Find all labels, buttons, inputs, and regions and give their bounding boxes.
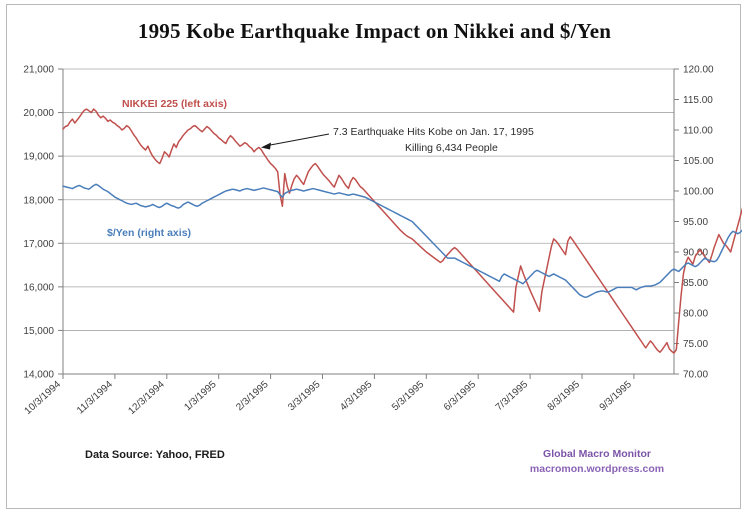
tick-label-right-axis: 115.00 (683, 95, 713, 106)
tick-label-right-axis: 85.00 (683, 278, 708, 289)
brand-site: macromon.wordpress.com (487, 462, 707, 477)
tick-label-x-axis-group: 4/3/1995 (338, 379, 375, 414)
tick-label-right-axis: 110.00 (683, 126, 713, 137)
tick-label-right-axis: 100.00 (683, 187, 714, 198)
annotation-arrow-line (265, 134, 329, 146)
tick-label-right-axis: 70.00 (683, 370, 708, 381)
brand-footer: Global Macro Monitor macromon.wordpress.… (487, 447, 707, 477)
tick-label-x-axis: 4/3/1995 (338, 379, 375, 414)
tick-label-x-axis: 9/3/1995 (598, 379, 635, 414)
tick-label-x-axis: 5/3/1995 (390, 379, 427, 414)
tick-label-right-axis: 75.00 (683, 339, 708, 350)
brand-name: Global Macro Monitor (487, 447, 707, 462)
tick-label-x-axis-group: 2/3/1995 (234, 379, 271, 414)
tick-label-left-axis: 16,000 (23, 282, 54, 293)
tick-label-x-axis-group: 11/3/1994 (75, 379, 115, 417)
tick-label-x-axis: 2/3/1995 (234, 379, 271, 414)
tick-label-left-axis: 15,000 (23, 326, 54, 337)
tick-label-x-axis-group: 6/3/1995 (442, 379, 479, 414)
series-line-yen (63, 184, 742, 297)
tick-label-x-axis: 6/3/1995 (442, 379, 479, 414)
tick-label-x-axis-group: 5/3/1995 (390, 379, 427, 414)
tick-label-left-axis: 19,000 (23, 152, 54, 163)
tick-label-x-axis-group: 3/3/1995 (286, 379, 323, 414)
tick-label-x-axis-group: 1/3/1995 (182, 379, 219, 414)
chart-svg: 14,00015,00016,00017,00018,00019,00020,0… (7, 5, 742, 510)
tick-label-x-axis-group: 12/3/1994 (126, 379, 167, 417)
tick-label-right-axis: 105.00 (683, 156, 714, 167)
tick-label-left-axis: 18,000 (23, 195, 54, 206)
tick-label-x-axis-group: 9/3/1995 (598, 379, 635, 414)
tick-label-left-axis: 14,000 (23, 370, 54, 381)
tick-label-left-axis: 21,000 (23, 65, 54, 76)
tick-label-x-axis-group: 7/3/1995 (494, 379, 531, 414)
tick-label-x-axis-group: 8/3/1995 (546, 379, 583, 414)
tick-label-x-axis: 10/3/1994 (23, 379, 64, 417)
series-label-nikkei: NIKKEI 225 (left axis) (122, 98, 227, 110)
tick-label-x-axis: 8/3/1995 (546, 379, 583, 414)
tick-label-x-axis: 11/3/1994 (75, 379, 115, 417)
series-label-yen: $/Yen (right axis) (107, 227, 191, 239)
tick-label-x-axis-group: 10/3/1994 (23, 379, 64, 417)
tick-label-left-axis: 20,000 (23, 108, 54, 119)
tick-label-x-axis: 1/3/1995 (182, 379, 219, 414)
tick-label-x-axis: 3/3/1995 (286, 379, 323, 414)
annotation-line-2: Killing 6,434 People (405, 142, 498, 154)
chart-plot-area: 14,00015,00016,00017,00018,00019,00020,0… (7, 5, 742, 510)
annotation-arrow-head (261, 143, 271, 150)
tick-label-left-axis: 17,000 (23, 239, 54, 250)
annotation-line-1: 7.3 Earthquake Hits Kobe on Jan. 17, 199… (333, 126, 534, 138)
chart-frame: 1995 Kobe Earthquake Impact on Nikkei an… (6, 4, 741, 509)
tick-label-x-axis: 12/3/1994 (126, 379, 167, 417)
tick-label-right-axis: 80.00 (683, 309, 708, 320)
tick-label-right-axis: 95.00 (683, 217, 708, 228)
tick-label-right-axis: 120.00 (683, 65, 714, 76)
data-source-label: Data Source: Yahoo, FRED (85, 449, 225, 461)
tick-label-x-axis: 7/3/1995 (494, 379, 531, 414)
